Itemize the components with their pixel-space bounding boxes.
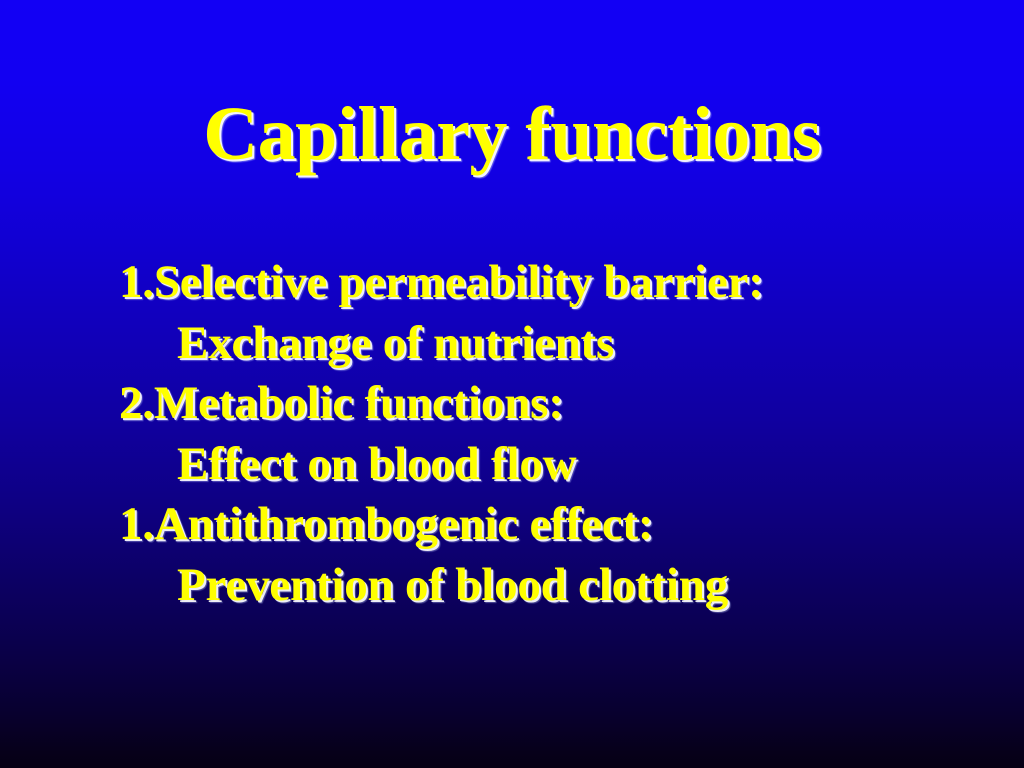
bullet-line-3: 2.Metabolic functions: bbox=[0, 373, 1024, 434]
page-title: Capillary functions bbox=[203, 92, 821, 176]
bullet-line-1: 1.Selective permeability barrier: bbox=[0, 252, 1024, 313]
bullet-line-2: Exchange of nutrients bbox=[0, 313, 1024, 374]
presentation-slide: Capillary functions 1.Selective permeabi… bbox=[0, 0, 1024, 768]
slide-title-block: Capillary functions bbox=[0, 41, 1024, 227]
bullet-line-4: Effect on blood flow bbox=[0, 434, 1024, 495]
bullet-line-5: 1.Antithrombogenic effect: bbox=[0, 494, 1024, 555]
bullet-line-6: Prevention of blood clotting bbox=[0, 555, 1024, 616]
slide-body-block: 1.Selective permeability barrier: Exchan… bbox=[0, 252, 1024, 615]
